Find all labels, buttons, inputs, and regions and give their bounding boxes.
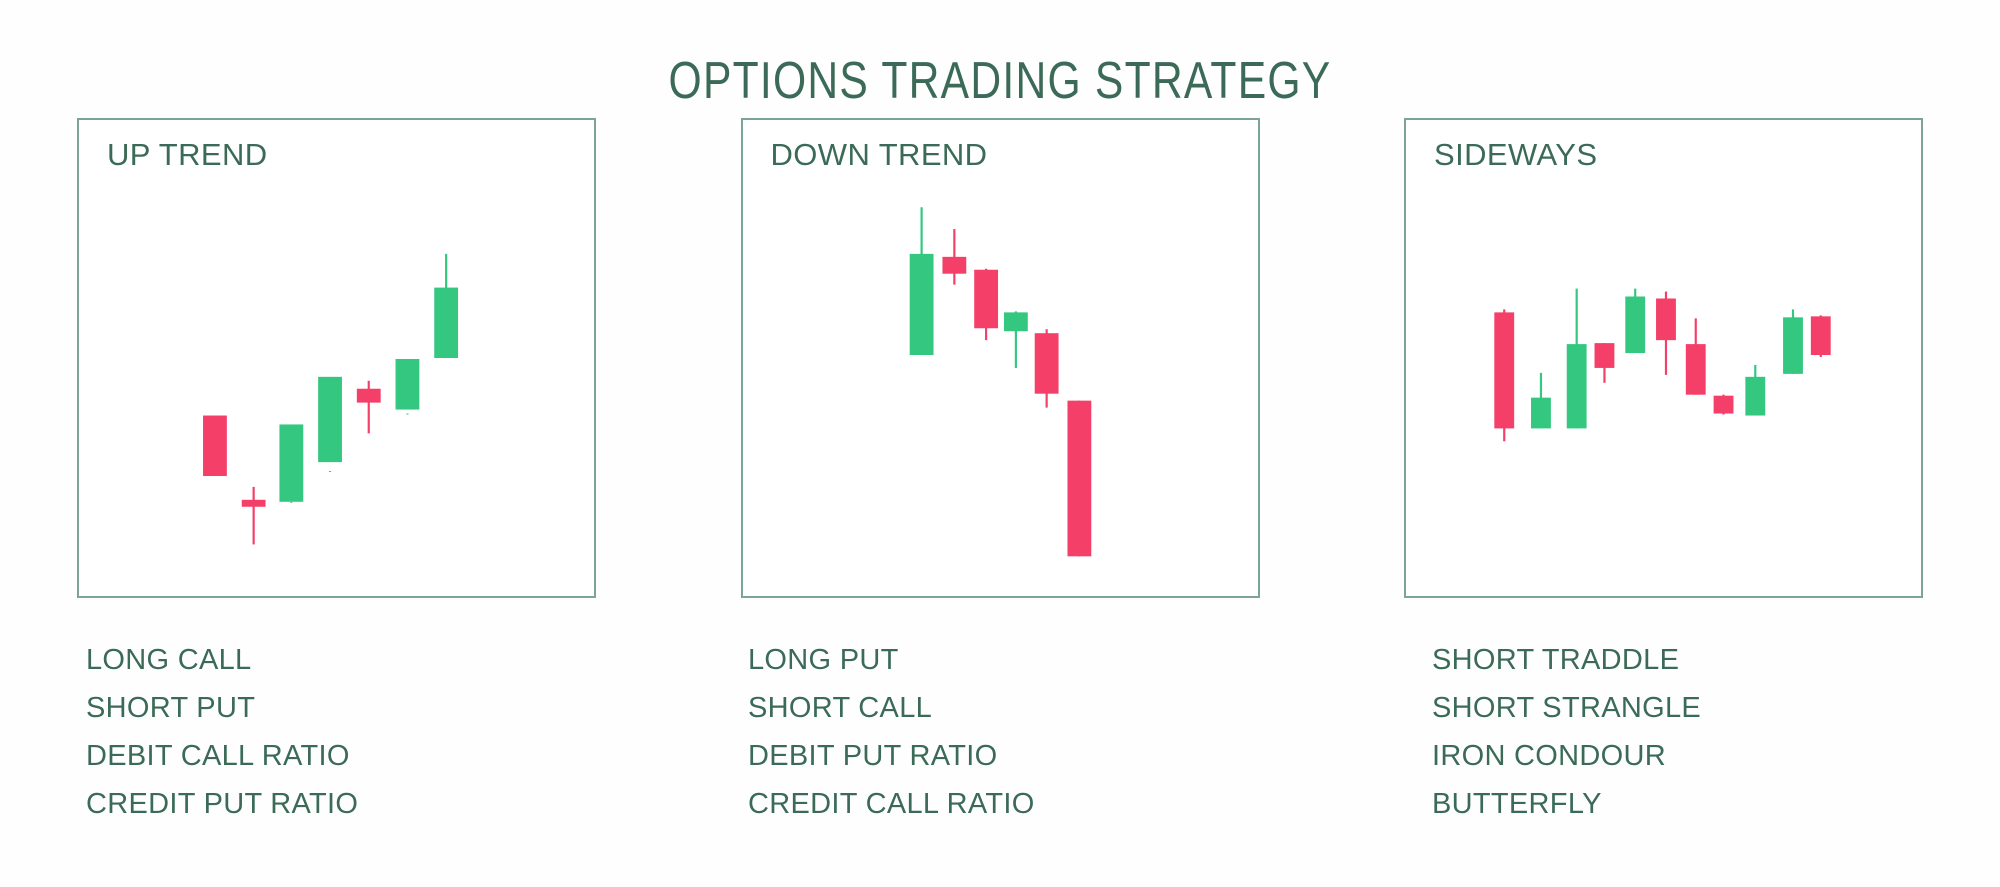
candle-body xyxy=(396,359,420,410)
candle-body xyxy=(434,288,458,358)
candle-wick xyxy=(368,381,370,434)
candle-wick xyxy=(406,414,408,415)
candle-body xyxy=(1625,297,1645,354)
candle-body xyxy=(942,257,966,274)
chart-svg-down-trend xyxy=(743,120,1258,596)
candle-body xyxy=(318,377,342,462)
options-strategy-infographic: OPTIONS TRADING STRATEGY UP TREND DOWN T… xyxy=(0,0,2000,887)
page-title: OPTIONS TRADING STRATEGY xyxy=(180,51,1820,111)
strategy-list-sideways: SHORT TRADDLE SHORT STRANGLE IRON CONDOU… xyxy=(1432,636,1701,828)
panel-down-trend: DOWN TREND xyxy=(741,118,1260,598)
candle-body xyxy=(1811,316,1831,355)
candlestick-chart-sideways xyxy=(1406,120,1921,596)
strategy-lists: LONG CALL SHORT PUT DEBIT CALL RATIO CRE… xyxy=(0,636,2000,876)
candle-body xyxy=(1656,299,1676,341)
candle-body xyxy=(1003,312,1027,331)
candlestick-chart-down-trend xyxy=(743,120,1258,596)
candle-body xyxy=(1783,317,1803,374)
list-item: DEBIT PUT RATIO xyxy=(748,732,1035,780)
candle-body xyxy=(1595,343,1615,368)
candle-body xyxy=(1067,401,1091,557)
candle-body xyxy=(1686,344,1706,395)
chart-svg-up-trend xyxy=(79,120,594,596)
list-item: SHORT TRADDLE xyxy=(1432,636,1701,684)
list-item: LONG PUT xyxy=(748,636,1035,684)
list-item: LONG CALL xyxy=(86,636,358,684)
panel-up-trend: UP TREND xyxy=(77,118,596,598)
candle-body xyxy=(1034,333,1058,393)
candle-body xyxy=(1567,344,1587,428)
list-item: SHORT STRANGLE xyxy=(1432,684,1701,732)
candle-body xyxy=(1714,396,1734,414)
candle-body xyxy=(1745,377,1765,416)
candle-body xyxy=(203,416,227,476)
candle-body xyxy=(974,270,998,329)
candle-body xyxy=(242,500,266,507)
candle-body xyxy=(357,389,381,403)
list-item: DEBIT CALL RATIO xyxy=(86,732,358,780)
candlestick-chart-up-trend xyxy=(79,120,594,596)
candle-body xyxy=(279,424,303,501)
panel-sideways: SIDEWAYS xyxy=(1404,118,1923,598)
chart-svg-sideways xyxy=(1406,120,1921,596)
candle-wick xyxy=(329,471,331,472)
list-item: BUTTERFLY xyxy=(1432,780,1701,828)
strategy-list-down-trend: LONG PUT SHORT CALL DEBIT PUT RATIO CRED… xyxy=(748,636,1035,828)
list-item: SHORT PUT xyxy=(86,684,358,732)
strategy-list-up-trend: LONG CALL SHORT PUT DEBIT CALL RATIO CRE… xyxy=(86,636,358,828)
list-item: CREDIT PUT RATIO xyxy=(86,780,358,828)
candle-body xyxy=(909,254,933,355)
list-item: IRON CONDOUR xyxy=(1432,732,1701,780)
list-item: CREDIT CALL RATIO xyxy=(748,780,1035,828)
candle-wick xyxy=(253,487,255,545)
candle-body xyxy=(1531,398,1551,429)
chart-panels-row: UP TREND DOWN TREND SIDEWAYS xyxy=(77,118,1923,598)
candle-wick xyxy=(290,502,292,503)
list-item: SHORT CALL xyxy=(748,684,1035,732)
candle-body xyxy=(1494,312,1514,428)
